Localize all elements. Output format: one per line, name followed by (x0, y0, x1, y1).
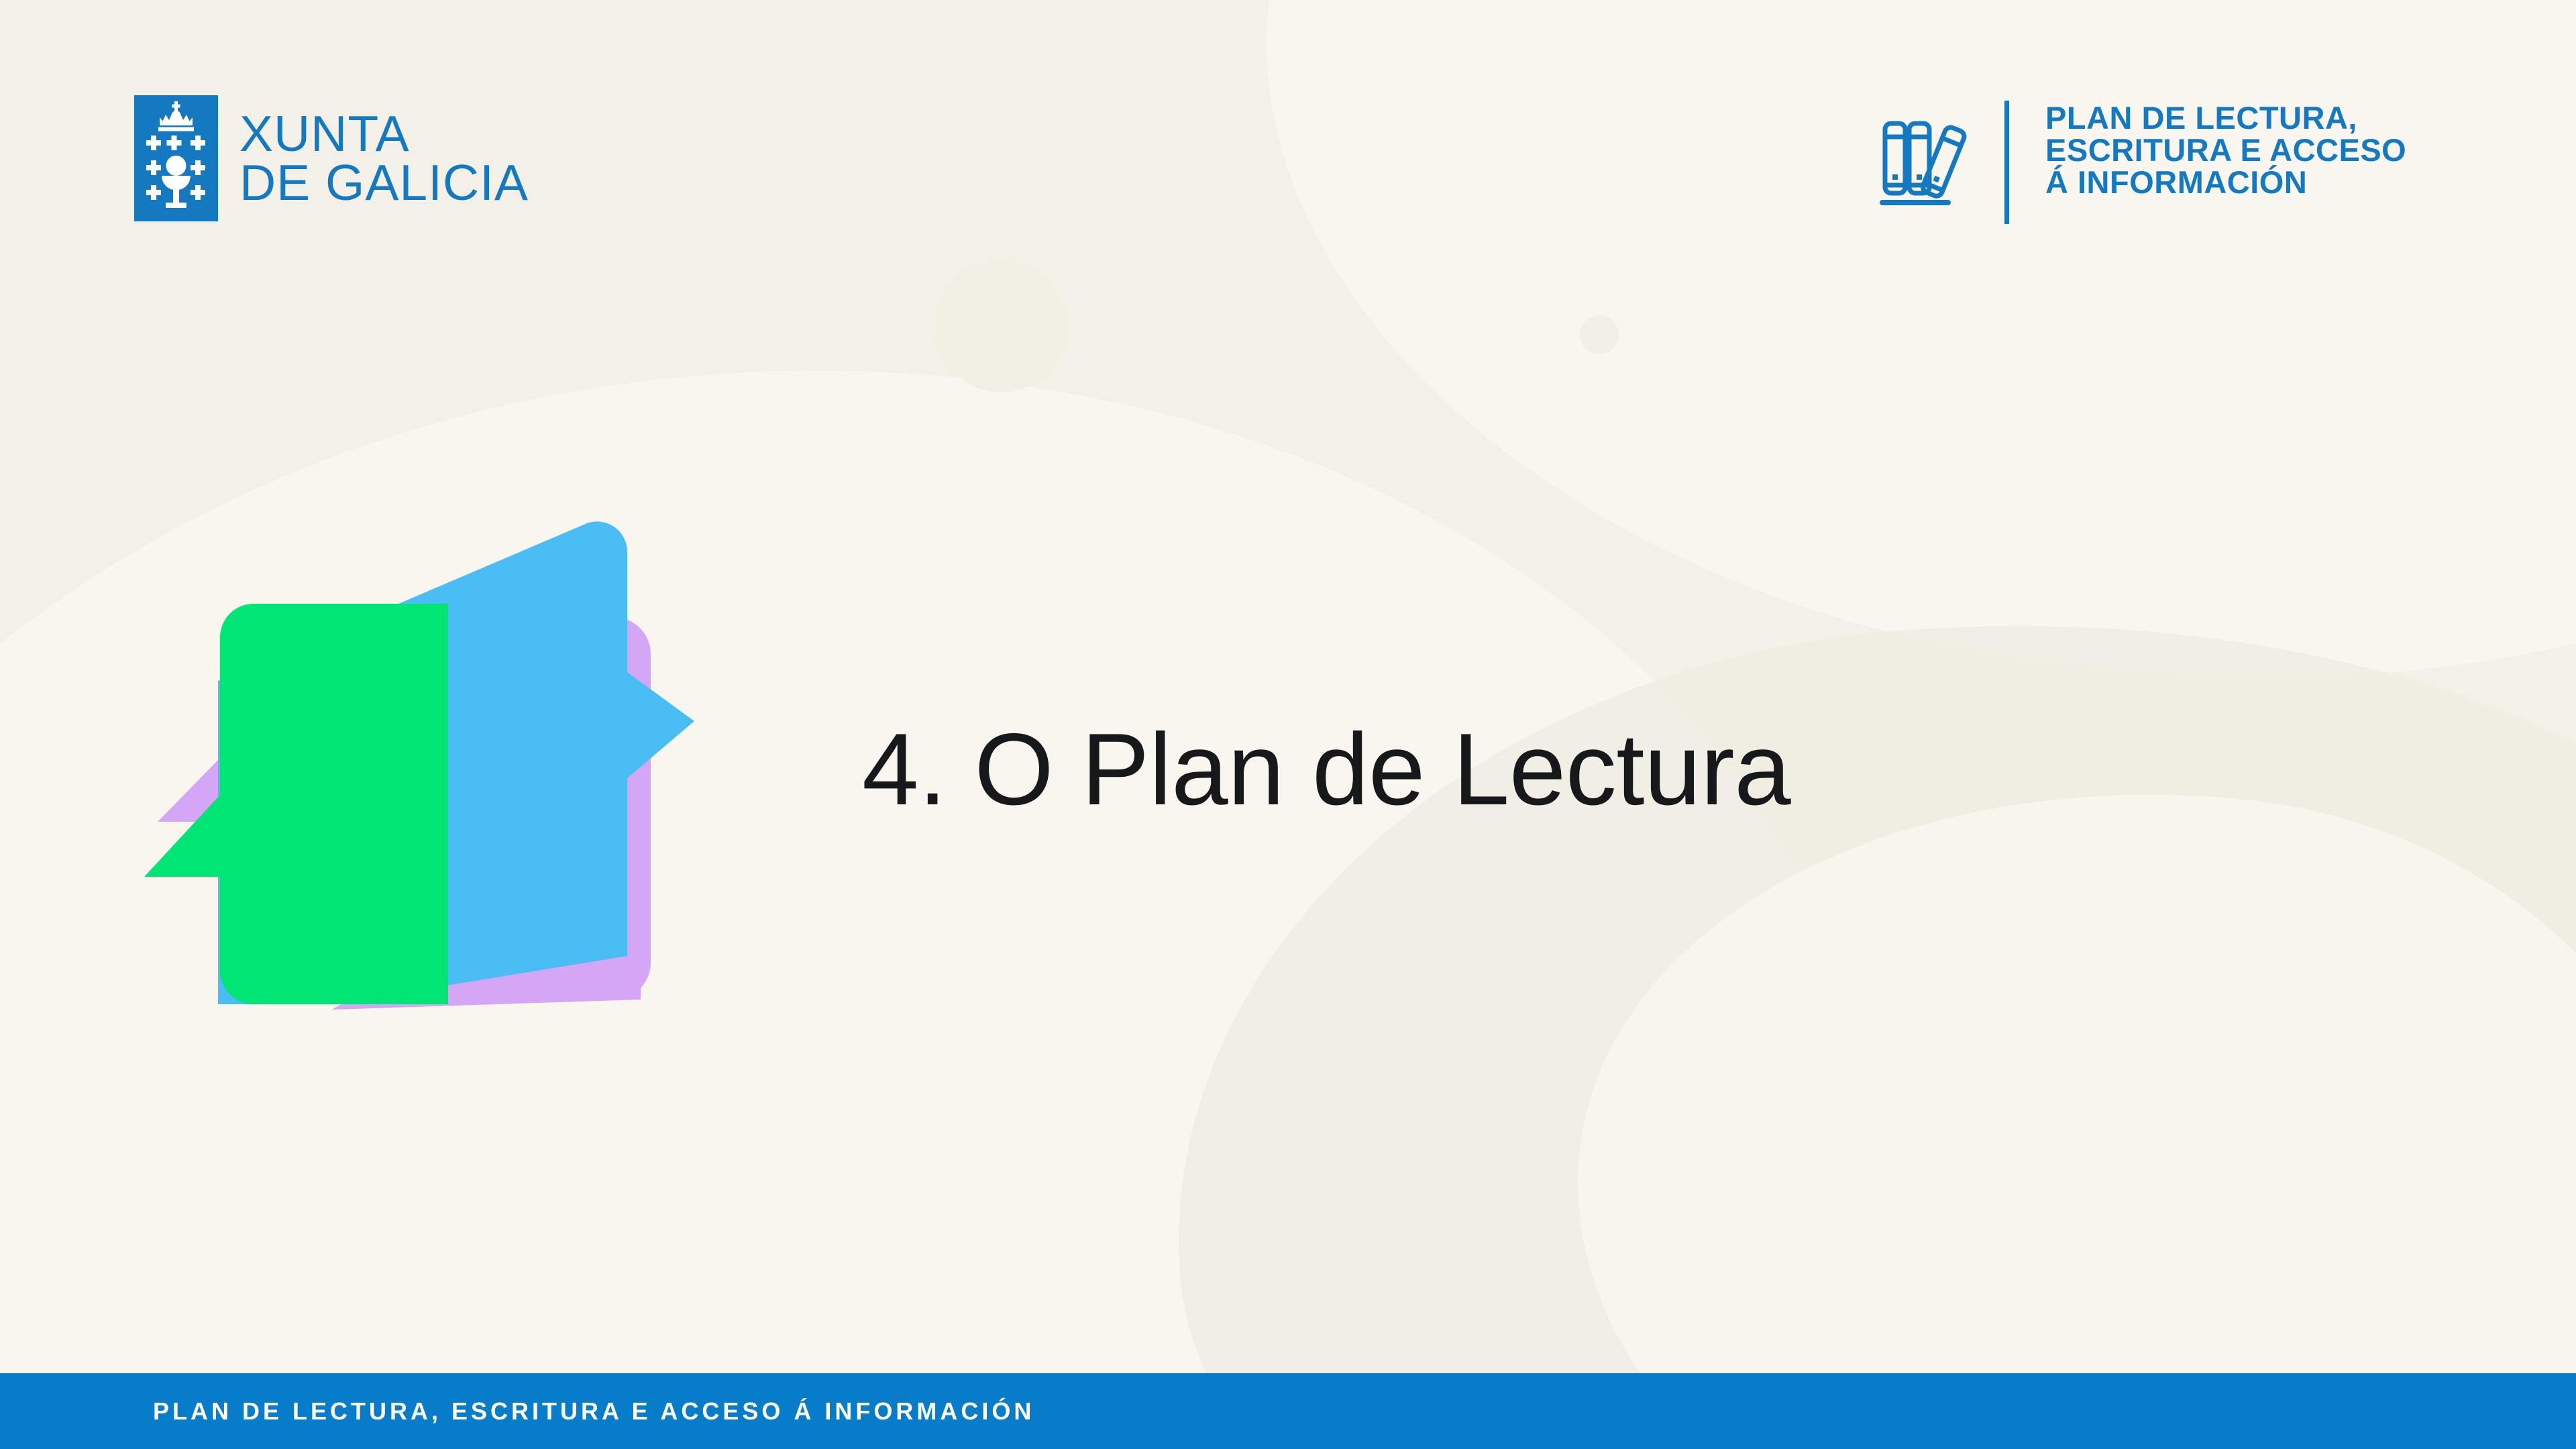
background-circle-small (1580, 315, 1619, 354)
page-title: 4. O Plan de Lectura (862, 711, 1790, 828)
plan-logo-line3: Á INFORMACIÓN (2045, 166, 2406, 199)
plan-logo-divider (2004, 101, 2009, 224)
xunta-wordmark-line1: XUNTA (239, 109, 529, 159)
xunta-de-galicia-logo: XUNTA DE GALICIA (134, 95, 529, 221)
xunta-wordmark: XUNTA DE GALICIA (239, 109, 529, 208)
slide-root: XUNTA DE GALICIA (0, 0, 2576, 1449)
plan-logo-text: PLAN DE LECTURA, ESCRITURA E ACCESO Á IN… (2028, 99, 2406, 199)
footer-bar: PLAN DE LECTURA, ESCRITURA E ACCESO Á IN… (0, 1373, 2576, 1449)
books-on-shelf-icon (1878, 99, 1986, 216)
xunta-wordmark-line2: DE GALICIA (239, 158, 529, 208)
footer-text: PLAN DE LECTURA, ESCRITURA E ACCESO Á IN… (153, 1397, 1034, 1426)
plan-logo-line1: PLAN DE LECTURA, (2045, 102, 2406, 134)
plan-lectura-house-mark (131, 500, 735, 1030)
galicia-coat-of-arms-icon (134, 95, 218, 221)
plan-de-lectura-logo: PLAN DE LECTURA, ESCRITURA E ACCESO Á IN… (1878, 99, 2406, 224)
background-circle-large (936, 262, 1067, 392)
plan-logo-line2: ESCRITURA E ACCESO (2045, 134, 2406, 166)
